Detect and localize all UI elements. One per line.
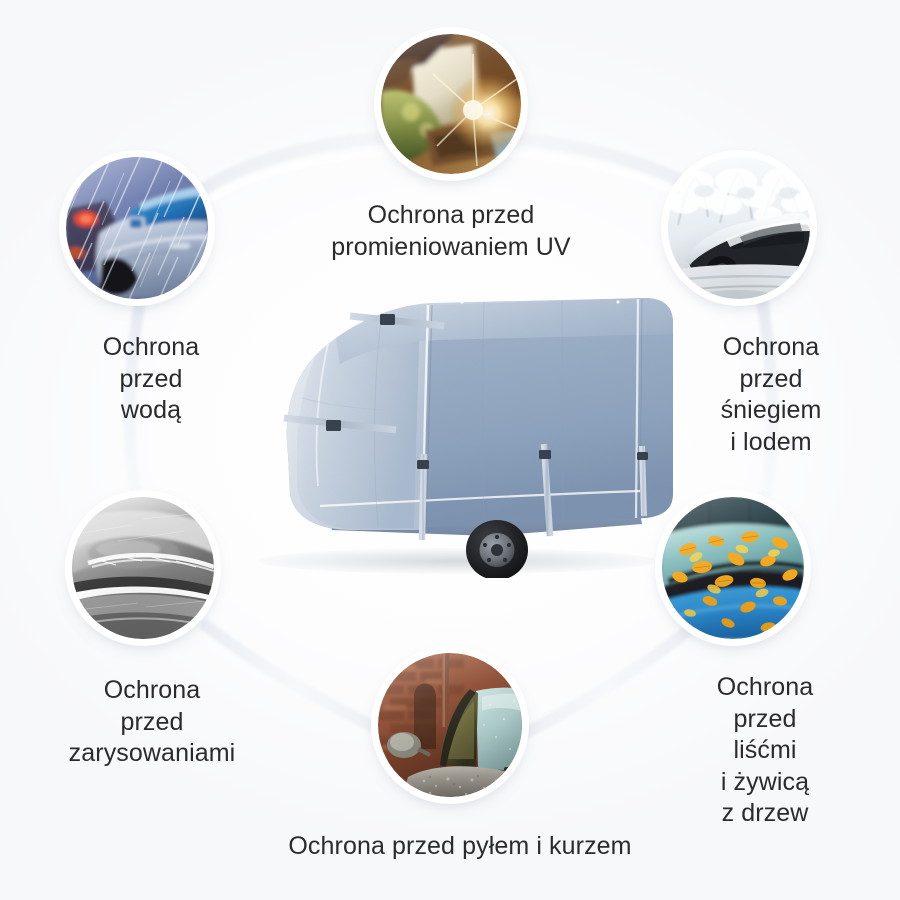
label-water: Ochrona przed wodą xyxy=(41,332,261,427)
label-scratches: Ochrona przed zarysowaniami xyxy=(37,675,267,770)
scratches-photo xyxy=(72,497,214,639)
feature-circle-scratches[interactable] xyxy=(72,497,214,639)
feature-circle-water[interactable] xyxy=(66,157,208,299)
water-photo xyxy=(66,157,208,299)
infographic-canvas: Ochrona przed promieniowaniem UV Ochrona… xyxy=(0,0,900,900)
feature-circle-dust[interactable] xyxy=(378,653,522,797)
label-uv: Ochrona przed promieniowaniem UV xyxy=(281,200,621,263)
caravan-cover-illustration xyxy=(232,278,684,578)
caravan-wheel xyxy=(466,520,528,578)
leaves-photo xyxy=(662,497,804,639)
snow-photo xyxy=(668,157,810,299)
dust-photo xyxy=(378,653,522,797)
uv-photo xyxy=(381,34,521,174)
cover-grommet xyxy=(616,300,619,303)
label-dust: Ochrona przed pyłem i kurzem xyxy=(230,831,690,863)
feature-circle-snow[interactable] xyxy=(668,157,810,299)
label-leaves: Ochrona przed liśćmi i żywicą z drzew xyxy=(665,672,865,830)
cover-grommet xyxy=(460,300,463,303)
feature-circle-uv[interactable] xyxy=(381,34,521,174)
label-snow: Ochrona przed śniegiem i lodem xyxy=(671,332,871,458)
feature-circle-leaves[interactable] xyxy=(662,497,804,639)
